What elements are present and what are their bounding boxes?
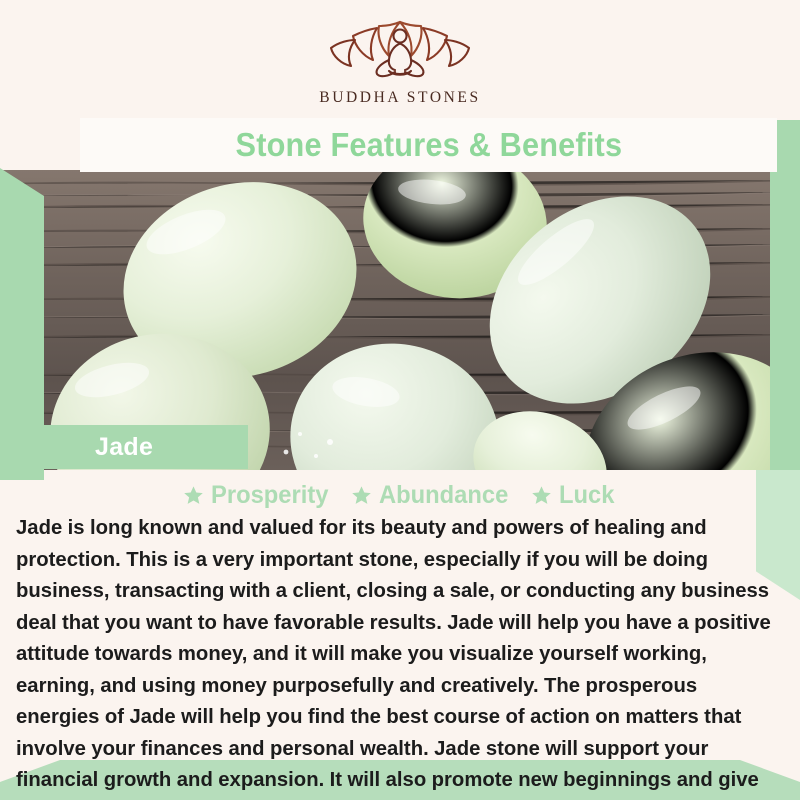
brand-name: BUDDHA STONES [319, 89, 480, 107]
benefit-label: Luck [559, 481, 614, 510]
benefit-label: Prosperity [211, 481, 328, 510]
star-icon [351, 485, 372, 506]
benefit-item: Luck [531, 481, 617, 510]
benefits-row: Prosperity Abundance Luck [0, 478, 800, 512]
star-icon [531, 485, 552, 506]
brand-header: BUDDHA STONES [0, 0, 800, 120]
lotus-meditation-icon [325, 14, 475, 84]
star-icon [183, 485, 204, 506]
accent-right-upper [770, 120, 800, 470]
benefit-item: Prosperity [183, 481, 335, 510]
page-title-band: Stone Features & Benefits [80, 118, 777, 172]
benefit-item: Abundance [351, 481, 515, 510]
benefit-label: Abundance [379, 481, 508, 510]
description-text: Jade is long known and valued for its be… [16, 512, 774, 800]
stone-info-poster: BUDDHA STONES [0, 0, 800, 800]
stone-name: Jade [95, 433, 153, 462]
stone-name-label: Jade [0, 425, 248, 469]
accent-left-upper [0, 168, 44, 418]
description-block: Jade is long known and valued for its be… [0, 512, 800, 800]
page-title: Stone Features & Benefits [235, 126, 622, 164]
